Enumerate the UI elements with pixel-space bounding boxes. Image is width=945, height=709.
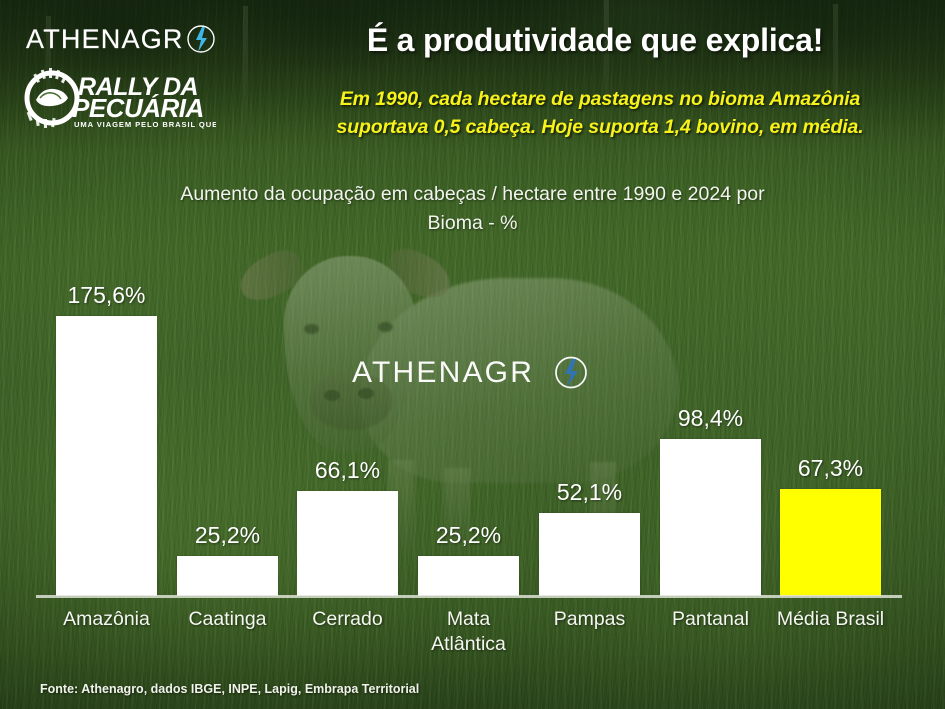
bar-média-brasil	[780, 489, 881, 596]
bar-cerrado	[297, 491, 398, 596]
category-label-line: Média Brasil	[756, 607, 905, 632]
bar-value-label: 98,4%	[638, 405, 783, 432]
athenagro-watermark: ATHENAGR	[352, 355, 590, 389]
slide-canvas: ATHENAGR	[0, 0, 945, 709]
chart-baseline-axis	[36, 595, 902, 598]
bar-amazônia	[56, 316, 157, 596]
bar-value-label: 175,6%	[34, 282, 179, 309]
bar-value-label: 25,2%	[155, 522, 300, 549]
bar-caatinga	[177, 556, 278, 596]
bar-mata-atlântica	[418, 556, 519, 596]
bar-value-label: 52,1%	[517, 479, 662, 506]
bar-pantanal	[660, 439, 761, 596]
bar-pampas	[539, 513, 640, 596]
bar-value-label: 67,3%	[758, 455, 903, 482]
category-label: Média Brasil	[756, 607, 905, 632]
bar-value-label: 25,2%	[396, 522, 541, 549]
bar-value-label: 66,1%	[275, 457, 420, 484]
source-footnote: Fonte: Athenagro, dados IBGE, INPE, Lapi…	[40, 682, 419, 696]
svg-text:ATHENAGR: ATHENAGR	[352, 356, 534, 389]
category-label-line: Atlântica	[394, 632, 543, 657]
